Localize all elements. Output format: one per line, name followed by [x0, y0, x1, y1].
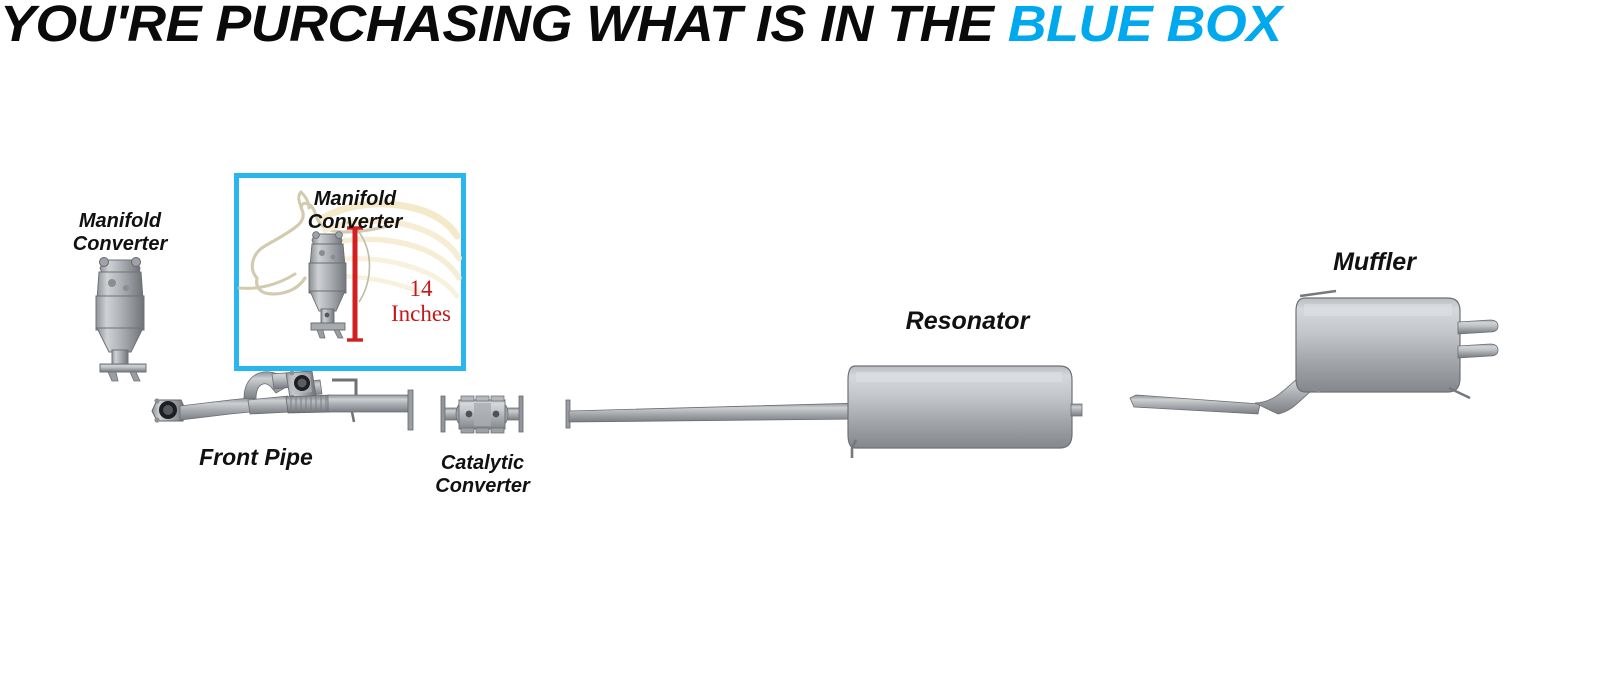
- blue-box-title: Manifold Converter: [239, 188, 471, 234]
- label-catalytic-converter: Catalytic Converter: [400, 452, 565, 498]
- label-front-pipe: Front Pipe: [166, 444, 346, 471]
- label-resonator: Resonator: [855, 307, 1080, 336]
- part-front-pipe: [152, 371, 413, 430]
- part-catalytic-converter: [441, 396, 523, 433]
- exhaust-system-diagram: YOU'RE PURCHASING WHAT IS IN THE BLUE BO…: [0, 0, 1600, 685]
- part-manifold-converter-boxed: [309, 232, 346, 338]
- part-muffler: [1130, 291, 1498, 414]
- part-manifold-converter-left: [96, 258, 146, 382]
- dimension-bar: [347, 228, 363, 340]
- part-resonator: [566, 366, 1082, 458]
- label-muffler: Muffler: [1272, 248, 1477, 277]
- blue-highlight-box: Manifold Converter: [234, 173, 466, 371]
- dimension-label: 14 Inches: [375, 277, 467, 327]
